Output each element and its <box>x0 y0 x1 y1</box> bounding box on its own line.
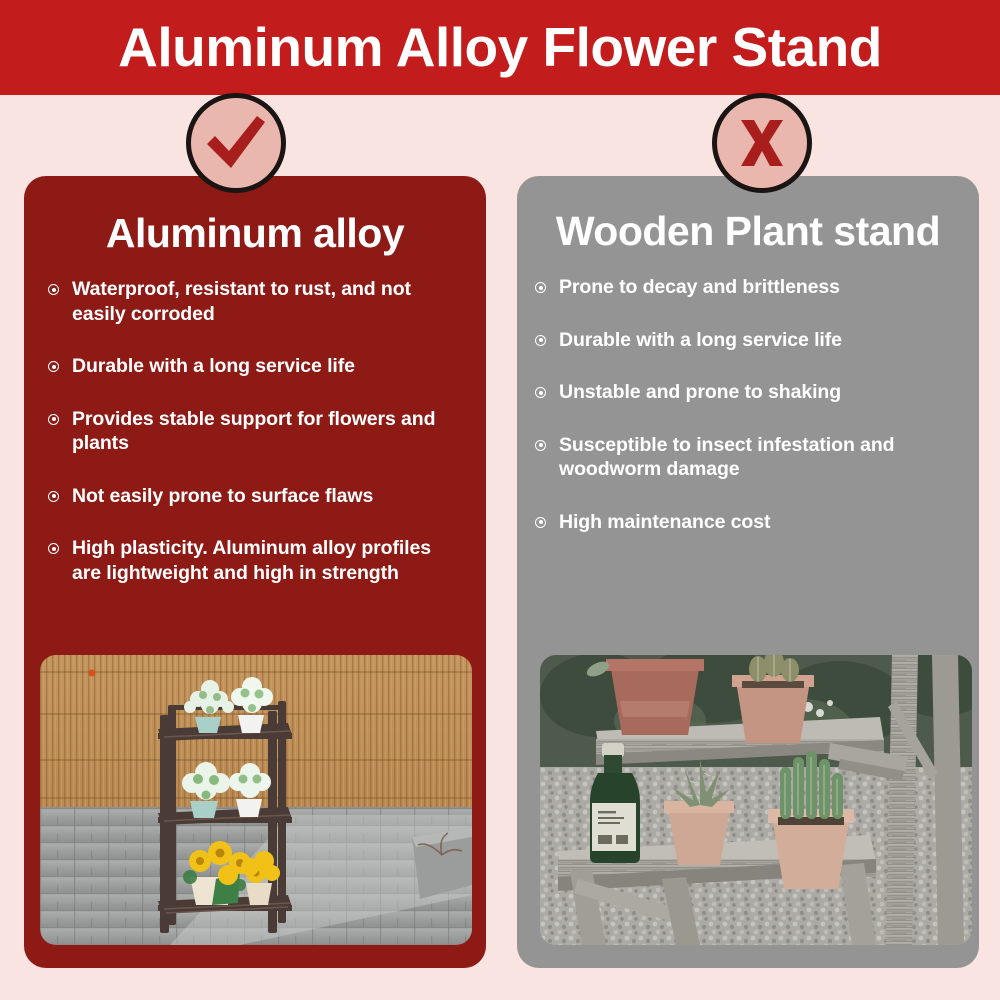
aluminum-stand-illustration <box>40 655 472 945</box>
list-item-label: Not easily prone to surface flaws <box>72 485 373 507</box>
list-item: Waterproof, resistant to rust, and not e… <box>48 277 460 326</box>
list-item: High plasticity. Aluminum alloy profiles… <box>48 536 460 585</box>
page-title: Aluminum Alloy Flower Stand <box>118 20 882 75</box>
list-item: Susceptible to insect infestation and wo… <box>535 433 965 482</box>
feature-list-aluminum: Waterproof, resistant to rust, and not e… <box>24 277 486 586</box>
aluminum-plant-stand-photo <box>40 655 472 945</box>
list-item-label: Prone to decay and brittleness <box>559 276 840 298</box>
cross-mark-badge <box>712 93 812 193</box>
list-item: Not easily prone to surface flaws <box>48 484 460 509</box>
check-mark-badge <box>186 93 286 193</box>
wooden-stand-illustration <box>540 655 972 945</box>
bullet-dot-icon <box>535 282 546 293</box>
list-item-label: Waterproof, resistant to rust, and not e… <box>72 278 411 325</box>
bullet-dot-icon <box>535 387 546 398</box>
list-item: Provides stable support for flowers and … <box>48 407 460 456</box>
panel-title-aluminum: Aluminum alloy <box>24 212 486 255</box>
list-item: Durable with a long service life <box>48 354 460 379</box>
list-item-label: Durable with a long service life <box>72 355 355 377</box>
bullet-dot-icon <box>48 361 59 372</box>
bullet-dot-icon <box>48 284 59 295</box>
bullet-dot-icon <box>48 543 59 554</box>
feature-list-wooden: Prone to decay and brittleness Durable w… <box>517 275 979 534</box>
wooden-plant-stand-photo <box>540 655 972 945</box>
cross-mark-icon <box>735 116 789 170</box>
bullet-dot-icon <box>48 491 59 502</box>
list-item: High maintenance cost <box>535 510 965 535</box>
list-item: Durable with a long service life <box>535 328 965 353</box>
check-mark-icon <box>203 113 269 173</box>
list-item-label: Durable with a long service life <box>559 329 842 351</box>
list-item-label: High plasticity. Aluminum alloy profiles… <box>72 537 431 584</box>
bullet-dot-icon <box>48 414 59 425</box>
list-item-label: Provides stable support for flowers and … <box>72 408 435 455</box>
list-item: Unstable and prone to shaking <box>535 380 965 405</box>
list-item: Prone to decay and brittleness <box>535 275 965 300</box>
list-item-label: Unstable and prone to shaking <box>559 381 841 403</box>
bullet-dot-icon <box>535 517 546 528</box>
list-item-label: High maintenance cost <box>559 511 770 533</box>
list-item-label: Susceptible to insect infestation and wo… <box>559 434 894 481</box>
bullet-dot-icon <box>535 440 546 451</box>
header-banner: Aluminum Alloy Flower Stand <box>0 0 1000 95</box>
bullet-dot-icon <box>535 335 546 346</box>
panel-title-wooden: Wooden Plant stand <box>517 210 979 253</box>
